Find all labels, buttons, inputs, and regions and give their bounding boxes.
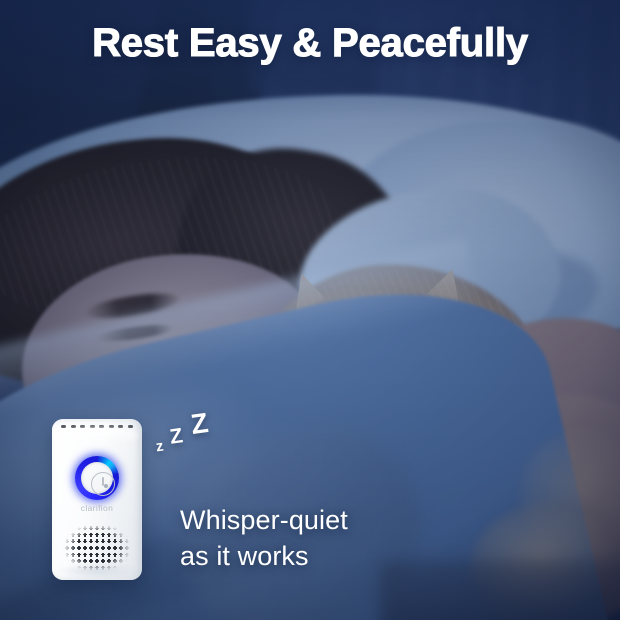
device-bottom-highlight bbox=[55, 564, 139, 578]
caption-line-1: Whisper-quiet bbox=[180, 503, 348, 539]
power-symbol-icon bbox=[91, 472, 115, 496]
device-brand-label: clarifion bbox=[52, 503, 142, 513]
caption-line-2: as it works bbox=[180, 539, 348, 575]
promo-image: Rest Easy & Peacefully clarifion bbox=[0, 0, 620, 620]
power-button-face bbox=[81, 462, 113, 494]
z-large: Z bbox=[189, 407, 210, 441]
device-top-highlight bbox=[56, 428, 138, 444]
z-small: z bbox=[155, 438, 165, 456]
z-medium: Z bbox=[168, 424, 184, 450]
headline: Rest Easy & Peacefully bbox=[0, 22, 620, 64]
sleep-zzz-icon: z Z Z bbox=[150, 408, 250, 468]
power-indicator-dot bbox=[104, 484, 108, 488]
caption: Whisper-quiet as it works bbox=[180, 503, 348, 574]
power-button[interactable] bbox=[75, 456, 119, 500]
clarifion-device: clarifion bbox=[52, 419, 142, 580]
